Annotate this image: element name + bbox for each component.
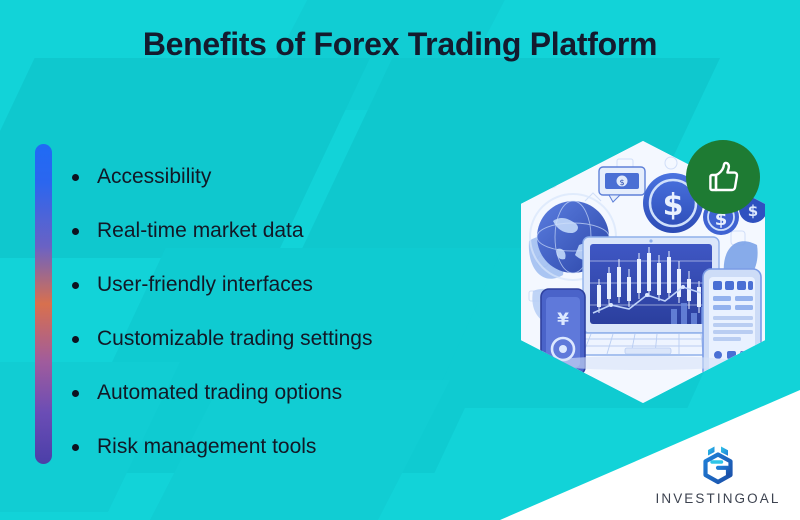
svg-text:$: $ [619,178,624,187]
svg-text:¥: ¥ [557,310,569,330]
bullet-dot-icon [72,228,79,235]
investingoal-hexagon-g-icon [695,443,741,487]
list-item-label: Real-time market data [97,219,304,242]
page-title: Benefits of Forex Trading Platform [0,26,800,63]
benefits-list: Accessibility Real-time market data User… [72,150,502,474]
svg-text:$: $ [748,202,758,220]
bullet-dot-icon [72,282,79,289]
status-badge [686,140,760,214]
thumbs-up-icon [703,157,743,197]
list-item: User-friendly interfaces [72,258,502,312]
list-item: Customizable trading settings [72,312,502,366]
list-item-label: Automated trading options [97,381,342,404]
list-item: Accessibility [72,150,502,204]
list-item-label: Risk management tools [97,435,316,458]
list-item-label: Customizable trading settings [97,327,372,350]
brand-logo: INVESTINGOAL [652,443,784,506]
list-item: Automated trading options [72,366,502,420]
list-item-label: Accessibility [97,165,211,188]
bullet-dot-icon [72,444,79,451]
list-item-label: User-friendly interfaces [97,273,313,296]
bullet-dot-icon [72,174,79,181]
logo-wordmark: INVESTINGOAL [656,491,781,506]
svg-text:$: $ [663,188,684,223]
bullet-dot-icon [72,336,79,343]
list-item: Real-time market data [72,204,502,258]
list-item: Risk management tools [72,420,502,474]
accent-gradient-bar [35,144,52,464]
bullet-dot-icon [72,390,79,397]
infographic-canvas: Benefits of Forex Trading Platform Acces… [0,0,800,520]
